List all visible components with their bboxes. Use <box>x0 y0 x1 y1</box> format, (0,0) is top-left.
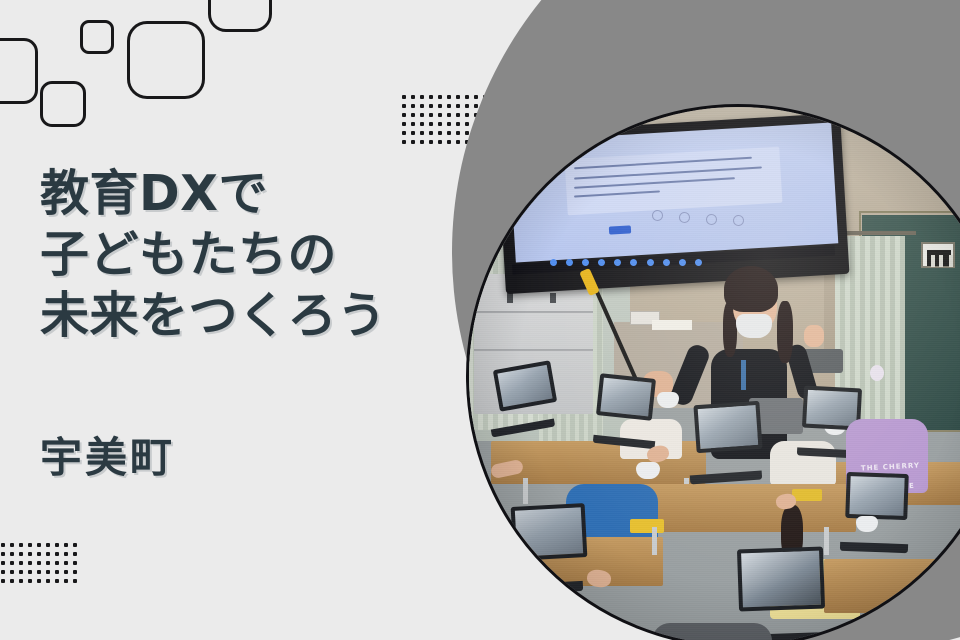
dot <box>10 579 14 583</box>
dot-grid-row <box>0 552 82 561</box>
dot <box>1 579 5 583</box>
dot <box>1 552 5 556</box>
dot <box>46 579 50 583</box>
dot <box>411 122 415 126</box>
photo-grain-overlay <box>469 107 960 640</box>
dot <box>64 579 68 583</box>
dot-grid-row <box>0 561 82 570</box>
dot <box>19 570 23 574</box>
dot <box>10 543 14 547</box>
dot <box>456 95 460 99</box>
dot <box>402 113 406 117</box>
dot <box>429 122 433 126</box>
dot <box>73 552 77 556</box>
dot <box>1 570 5 574</box>
dot <box>46 552 50 556</box>
dot <box>73 561 77 565</box>
rounded-square-decoration <box>40 81 86 127</box>
dot <box>402 95 406 99</box>
headline: 教育DXで 子どもたちの 未来をつくろう <box>40 164 460 346</box>
dot <box>28 570 32 574</box>
dot <box>73 570 77 574</box>
dot-grid-decoration-bottom <box>0 543 82 588</box>
dot <box>402 122 406 126</box>
dot <box>429 95 433 99</box>
dot <box>447 104 451 108</box>
rounded-square-decoration <box>0 38 38 104</box>
dot <box>1 543 5 547</box>
dot <box>438 95 442 99</box>
dot <box>37 552 41 556</box>
dot <box>465 95 469 99</box>
dot <box>64 552 68 556</box>
dot <box>10 561 14 565</box>
headline-line-3: 未来をつくろう <box>40 286 460 347</box>
dot <box>73 543 77 547</box>
dot <box>64 561 68 565</box>
dot <box>420 104 424 108</box>
dot <box>64 570 68 574</box>
dot <box>73 579 77 583</box>
dot <box>55 579 59 583</box>
dot <box>28 543 32 547</box>
dot <box>420 131 424 135</box>
dot <box>420 122 424 126</box>
dot <box>402 140 406 144</box>
subtitle-municipality: 宇美町 <box>40 424 175 485</box>
dot <box>456 104 460 108</box>
dot <box>429 131 433 135</box>
dot <box>420 140 424 144</box>
dot <box>456 140 460 144</box>
dot <box>411 95 415 99</box>
dot <box>37 570 41 574</box>
dot <box>19 579 23 583</box>
dot <box>447 95 451 99</box>
rounded-square-decoration <box>80 20 114 54</box>
headline-line-1: 教育DXで <box>40 164 460 225</box>
dot <box>429 104 433 108</box>
dot <box>37 561 41 565</box>
dot <box>438 113 442 117</box>
dot <box>447 122 451 126</box>
classroom-photo: THE CHERRY ON THE CAKE <box>466 104 960 640</box>
dot-grid-row <box>0 570 82 579</box>
dot <box>28 579 32 583</box>
dot <box>19 561 23 565</box>
dot <box>28 561 32 565</box>
dot <box>447 113 451 117</box>
dot <box>411 104 415 108</box>
dot <box>19 552 23 556</box>
dot <box>10 552 14 556</box>
dot <box>456 122 460 126</box>
dot <box>46 561 50 565</box>
dot <box>429 113 433 117</box>
dot <box>10 570 14 574</box>
dot <box>46 543 50 547</box>
dot <box>55 543 59 547</box>
dot <box>474 95 478 99</box>
rounded-square-decoration <box>208 0 272 32</box>
classroom-photo-scene: THE CHERRY ON THE CAKE <box>469 107 960 640</box>
dot <box>55 552 59 556</box>
dot <box>438 131 442 135</box>
promotional-banner: THE CHERRY ON THE CAKE <box>0 0 960 640</box>
dot <box>438 140 442 144</box>
headline-line-2: 子どもたちの <box>40 225 460 286</box>
dot <box>438 104 442 108</box>
dot-grid-row <box>0 579 82 588</box>
dot <box>28 552 32 556</box>
dot <box>55 561 59 565</box>
dot <box>19 543 23 547</box>
dot <box>1 561 5 565</box>
dot <box>55 570 59 574</box>
dot <box>447 131 451 135</box>
dot <box>46 570 50 574</box>
dot <box>420 95 424 99</box>
dot <box>411 113 415 117</box>
dot-grid-row <box>0 543 82 552</box>
dot <box>402 131 406 135</box>
dot <box>429 140 433 144</box>
dot <box>402 104 406 108</box>
dot <box>447 140 451 144</box>
dot <box>37 579 41 583</box>
dot <box>438 122 442 126</box>
rounded-square-decoration <box>127 21 205 99</box>
dot <box>37 543 41 547</box>
dot <box>420 113 424 117</box>
dot <box>411 140 415 144</box>
dot <box>64 543 68 547</box>
dot <box>456 131 460 135</box>
dot <box>456 113 460 117</box>
dot <box>411 131 415 135</box>
